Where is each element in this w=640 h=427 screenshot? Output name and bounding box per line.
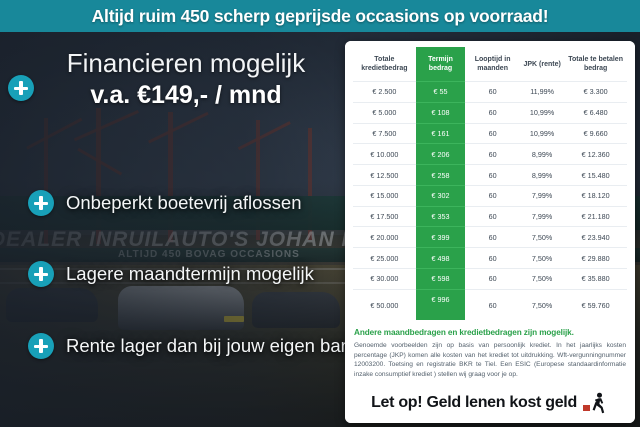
cell-monthly-amount: € 399 — [416, 227, 466, 248]
cell-interest: 7,50% — [520, 227, 564, 248]
cell-total-payable: € 6.480 — [564, 102, 627, 123]
rate-table: Totale kredietbedrag Termijn bedrag Loop… — [353, 47, 627, 320]
ad-banner-root: DEALER INRUILAUTO'S JOHAN MEURE ALTIJD 4… — [0, 0, 640, 427]
cell-total-payable: € 23.940 — [564, 227, 627, 248]
bullet-item-label: Rente lager dan bij jouw eigen bank — [66, 335, 360, 357]
cell-interest: 10,99% — [520, 102, 564, 123]
cell-duration: 60 — [465, 185, 520, 206]
cell-interest: 8,99% — [520, 144, 564, 165]
headline-block: Financieren mogelijk v.a. €149,- / mnd — [28, 48, 344, 110]
top-banner-text: Altijd ruim 450 scherp geprijsde occasio… — [92, 6, 549, 27]
table-row: € 7.500€ 1616010,99%€ 9.660 — [353, 123, 627, 144]
col-header-duration: Looptijd in maanden — [465, 47, 520, 82]
cell-monthly-amount: € 598 — [416, 269, 466, 290]
cell-monthly-amount: € 498 — [416, 248, 466, 269]
bullet-item-2: Lagere maandtermijn mogelijk — [28, 260, 348, 288]
cell-interest: 10,99% — [520, 123, 564, 144]
cell-interest: 7,50% — [520, 269, 564, 290]
disclaimer-block: Andere maandbedragen en kredietbedragen … — [345, 328, 635, 379]
plus-icon — [28, 333, 54, 359]
cell-monthly-amount: € 206 — [416, 144, 466, 165]
cell-interest: 7,99% — [520, 185, 564, 206]
cell-duration: 60 — [465, 102, 520, 123]
cell-total-credit: € 5.000 — [353, 102, 416, 123]
plus-icon — [28, 261, 54, 287]
cell-total-payable: € 15.480 — [564, 165, 627, 186]
table-row: € 15.000€ 302607,99%€ 18.120 — [353, 185, 627, 206]
cell-interest: 7,50% — [520, 248, 564, 269]
bullet-item-3: Rente lager dan bij jouw eigen bank — [28, 332, 348, 360]
cell-monthly-amount: € 258 — [416, 165, 466, 186]
cell-duration: 60 — [465, 123, 520, 144]
bullet-item-1: Onbeperkt boetevrij aflossen — [28, 189, 348, 217]
cell-total-payable: € 21.180 — [564, 206, 627, 227]
cell-duration: 60 — [465, 82, 520, 103]
table-row: € 17.500€ 353607,99%€ 21.180 — [353, 206, 627, 227]
cell-interest: 7,50% — [520, 289, 564, 320]
cell-duration: 60 — [465, 248, 520, 269]
cell-monthly-amount: € 302 — [416, 185, 466, 206]
col-header-total-credit: Totale kredietbedrag — [353, 47, 416, 82]
bullet-item-label: Lagere maandtermijn mogelijk — [66, 263, 314, 285]
cell-duration: 60 — [465, 144, 520, 165]
cell-interest: 8,99% — [520, 165, 564, 186]
table-row: € 50.000€ 996607,50%€ 59.760 — [353, 289, 627, 320]
col-header-monthly-amount: Termijn bedrag — [416, 47, 466, 82]
cell-total-payable: € 9.660 — [564, 123, 627, 144]
cell-duration: 60 — [465, 165, 520, 186]
cell-total-credit: € 15.000 — [353, 185, 416, 206]
cell-duration: 60 — [465, 227, 520, 248]
cell-monthly-amount: € 353 — [416, 206, 466, 227]
cell-total-credit: € 12.500 — [353, 165, 416, 186]
cell-monthly-amount: € 55 — [416, 82, 466, 103]
table-row: € 2.500€ 556011,99%€ 3.300 — [353, 82, 627, 103]
table-row: € 12.500€ 258608,99%€ 15.480 — [353, 165, 627, 186]
cell-total-payable: € 3.300 — [564, 82, 627, 103]
cell-total-credit: € 25.000 — [353, 248, 416, 269]
cell-monthly-amount: € 996 — [416, 289, 466, 320]
headline-line-1: Financieren mogelijk — [28, 48, 344, 78]
cell-total-credit: € 10.000 — [353, 144, 416, 165]
cell-total-credit: € 17.500 — [353, 206, 416, 227]
table-header-row: Totale kredietbedrag Termijn bedrag Loop… — [353, 47, 627, 82]
col-header-interest: JPK (rente) — [520, 47, 564, 82]
cell-duration: 60 — [465, 289, 520, 320]
cell-interest: 11,99% — [520, 82, 564, 103]
walking-person-icon — [583, 392, 609, 414]
cell-monthly-amount: € 161 — [416, 123, 466, 144]
col-header-total-payable: Totale te betalen bedrag — [564, 47, 627, 82]
warning-bar: Let op! Geld lenen kost geld — [345, 383, 635, 423]
left-content-column: Financieren mogelijk v.a. €149,- / mnd O… — [0, 32, 350, 427]
cell-interest: 7,99% — [520, 206, 564, 227]
cell-total-payable: € 18.120 — [564, 185, 627, 206]
rate-table-body: € 2.500€ 556011,99%€ 3.300€ 5.000€ 10860… — [353, 82, 627, 321]
cell-total-payable: € 35.880 — [564, 269, 627, 290]
cell-monthly-amount: € 108 — [416, 102, 466, 123]
cell-total-credit: € 50.000 — [353, 289, 416, 320]
table-row: € 25.000€ 498607,50%€ 29.880 — [353, 248, 627, 269]
table-row: € 20.000€ 399607,50%€ 23.940 — [353, 227, 627, 248]
disclaimer-body: Genoemde voorbeelden zijn op basis van p… — [354, 341, 626, 379]
table-row: € 30.000€ 598607,50%€ 35.880 — [353, 269, 627, 290]
table-row: € 5.000€ 1086010,99%€ 6.480 — [353, 102, 627, 123]
cell-total-payable: € 59.760 — [564, 289, 627, 320]
top-banner: Altijd ruim 450 scherp geprijsde occasio… — [0, 0, 640, 32]
cell-total-payable: € 12.360 — [564, 144, 627, 165]
cell-total-payable: € 29.880 — [564, 248, 627, 269]
disclaimer-title: Andere maandbedragen en kredietbedragen … — [354, 328, 626, 337]
cell-duration: 60 — [465, 206, 520, 227]
headline-line-2: v.a. €149,- / mnd — [28, 80, 344, 110]
cell-total-credit: € 2.500 — [353, 82, 416, 103]
cell-total-credit: € 30.000 — [353, 269, 416, 290]
rate-table-head: Totale kredietbedrag Termijn bedrag Loop… — [353, 47, 627, 82]
rate-table-wrapper: Totale kredietbedrag Termijn bedrag Loop… — [345, 41, 635, 324]
warning-text: Let op! Geld lenen kost geld — [371, 394, 577, 412]
financing-rate-card: Totale kredietbedrag Termijn bedrag Loop… — [345, 41, 635, 423]
cell-total-credit: € 20.000 — [353, 227, 416, 248]
cell-duration: 60 — [465, 269, 520, 290]
cell-total-credit: € 7.500 — [353, 123, 416, 144]
plus-icon-headline — [8, 75, 34, 101]
bullet-item-label: Onbeperkt boetevrij aflossen — [66, 192, 302, 214]
plus-icon — [28, 190, 54, 216]
table-row: € 10.000€ 206608,99%€ 12.360 — [353, 144, 627, 165]
